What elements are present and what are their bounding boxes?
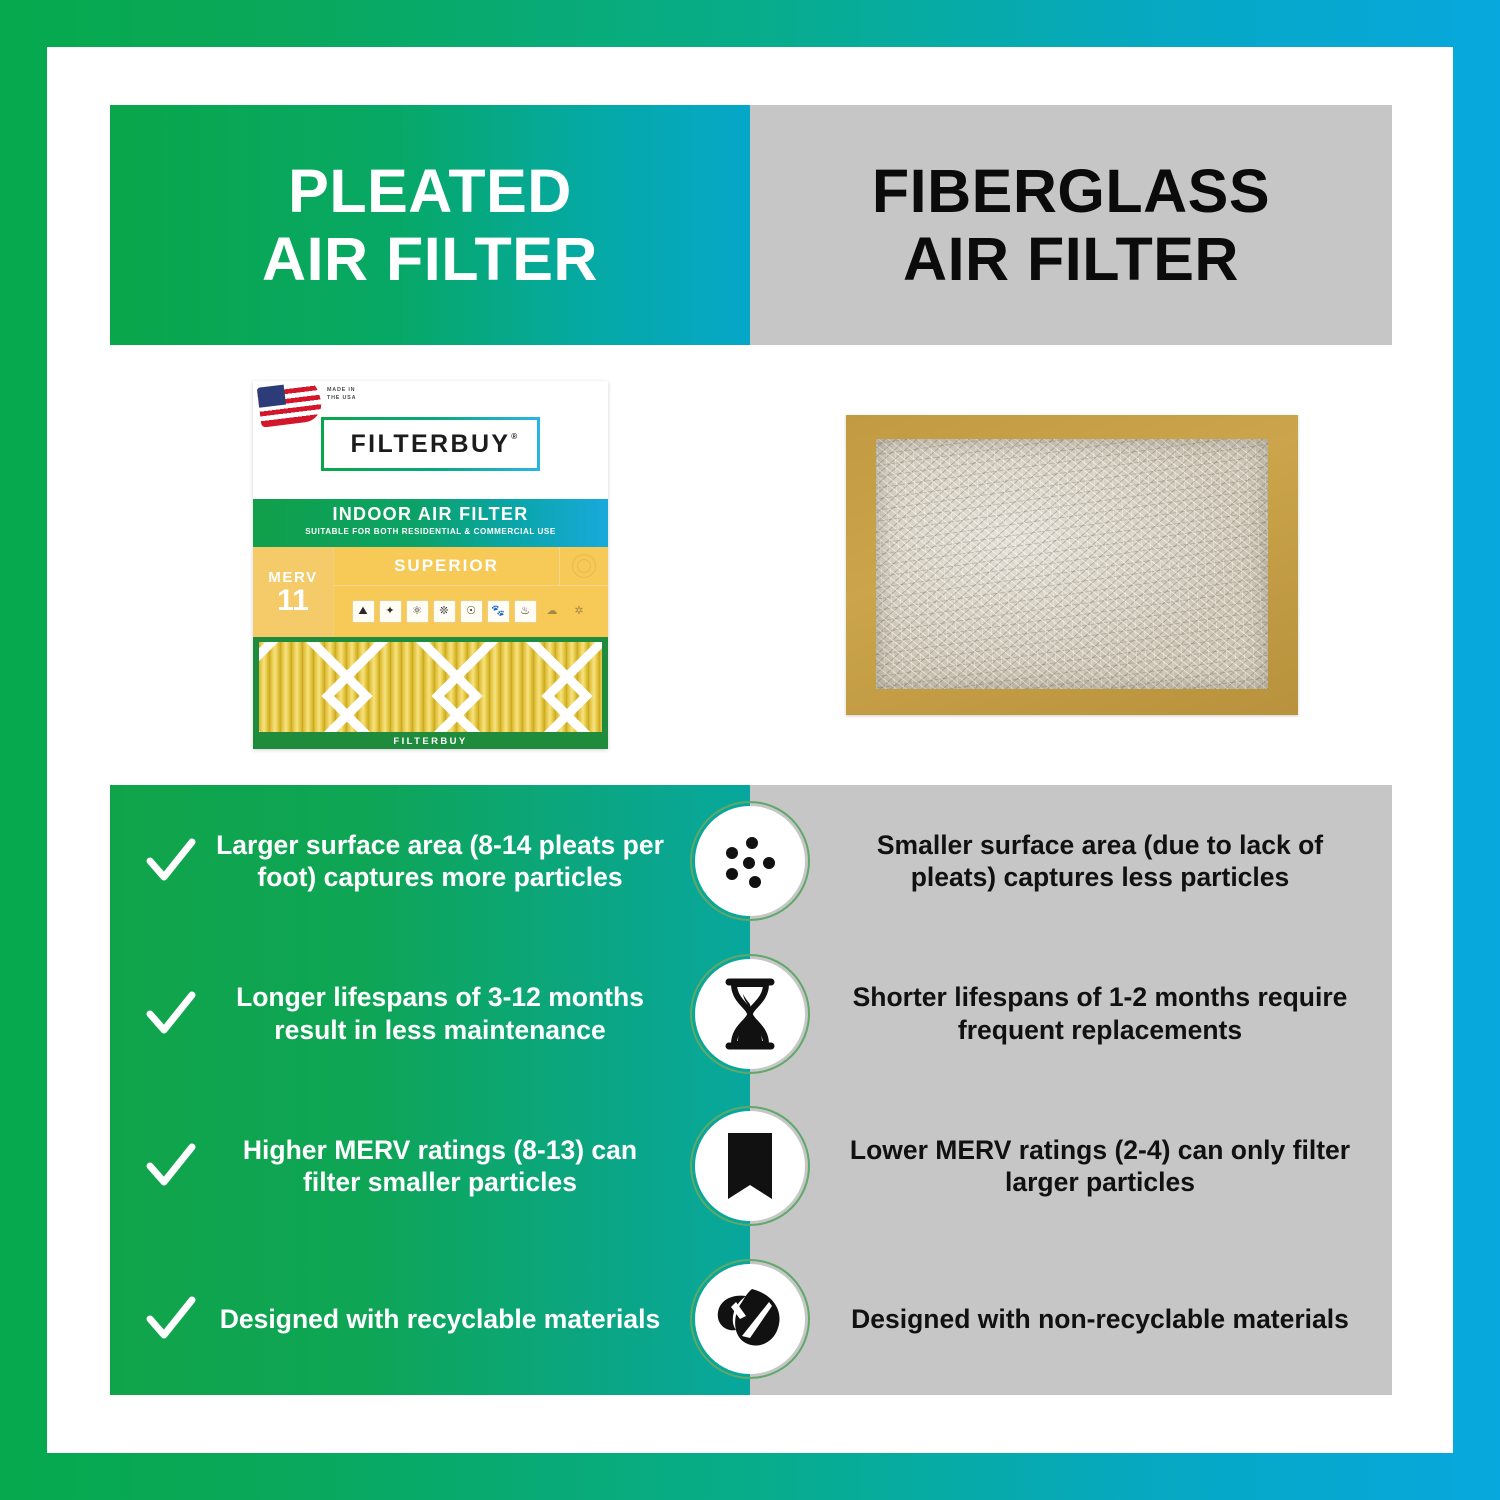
fiberglass-filter-photo: [846, 415, 1298, 715]
made-in-line1: MADE IN: [327, 387, 356, 395]
row-left-cell: Larger surface area (8-14 pleats per foo…: [110, 829, 750, 894]
checkmark-icon: [144, 987, 198, 1041]
filterbuy-wordmark: FILTERBUY: [350, 430, 510, 458]
tier-label: SUPERIOR: [334, 556, 559, 576]
comparison-body: Larger surface area (8-14 pleats per foo…: [110, 785, 1392, 1395]
row-right-text: Shorter lifespans of 1-2 months require …: [838, 981, 1362, 1046]
pet-dander-icon: 🐾: [487, 600, 510, 623]
package-banner: INDOOR AIR FILTER SUITABLE FOR BOTH RESI…: [253, 499, 608, 547]
row-left-cell: Higher MERV ratings (8-13) can filter sm…: [110, 1134, 750, 1199]
header-fiberglass: FIBERGLASS AIR FILTER: [750, 105, 1392, 345]
smoke-icon: ♨: [514, 600, 537, 623]
pleated-product-cell: MADE IN THE USA FILTERBUY® INDOOR AIR FI…: [110, 345, 751, 785]
header-fiberglass-line1: FIBERGLASS: [872, 157, 1270, 225]
odor-icon: ✲: [568, 600, 591, 623]
pleated-media: FILTERBUY: [253, 637, 608, 749]
registered-mark: ®: [511, 432, 519, 441]
header-fiberglass-title: FIBERGLASS AIR FILTER: [872, 157, 1270, 294]
row-right-cell: Lower MERV ratings (2-4) can only filter…: [750, 1134, 1392, 1199]
checkmark-icon: [144, 834, 198, 888]
feature-icon-strip: ⛰ ✦ ⚛ ❊ ☉ 🐾 ♨ ☁ ✲: [334, 586, 608, 637]
merv-band-right: SUPERIOR ⛰ ✦ ⚛ ❊ ☉ 🐾 ♨ ☁: [334, 547, 608, 637]
fiberglass-media: [876, 439, 1268, 689]
package-top: MADE IN THE USA FILTERBUY®: [253, 381, 608, 499]
made-in-usa-text: MADE IN THE USA: [327, 387, 356, 403]
leaf-icon: [690, 1259, 810, 1379]
row-left-text: Higher MERV ratings (8-13) can filter sm…: [214, 1134, 666, 1199]
banner-subtitle: SUITABLE FOR BOTH RESIDENTIAL & COMMERCI…: [253, 527, 608, 536]
comparison-row: Higher MERV ratings (8-13) can filter sm…: [110, 1090, 1392, 1243]
pleat-texture: [259, 642, 602, 732]
header-pleated-title: PLEATED AIR FILTER: [262, 157, 598, 294]
row-right-cell: Smaller surface area (due to lack of ple…: [750, 829, 1392, 894]
made-in-line2: THE USA: [327, 395, 356, 403]
infographic-page: PLEATED AIR FILTER FIBERGLASS AIR FILTER: [0, 0, 1500, 1500]
banner-title: INDOOR AIR FILTER: [253, 504, 608, 525]
checkmark-icon: [144, 1139, 198, 1193]
content-canvas: PLEATED AIR FILTER FIBERGLASS AIR FILTER: [110, 105, 1392, 1395]
merv-block: MERV 11: [253, 547, 334, 637]
bacteria-icon: ⚛: [406, 600, 429, 623]
mold-spores-icon: ❊: [433, 600, 456, 623]
header-row: PLEATED AIR FILTER FIBERGLASS AIR FILTER: [110, 105, 1392, 345]
merv-value: 11: [277, 587, 309, 616]
bookmark-icon: [690, 1106, 810, 1226]
filterbuy-logo: FILTERBUY®: [321, 417, 540, 471]
smog-icon: ☁: [541, 600, 564, 623]
usa-flag-icon: [257, 381, 323, 428]
row-right-cell: Designed with non-recyclable materials: [750, 1303, 1392, 1335]
support-lattice: [259, 642, 602, 732]
checkmark-icon: [144, 1292, 198, 1346]
row-left-cell: Designed with recyclable materials: [110, 1292, 750, 1346]
comparison-row: Larger surface area (8-14 pleats per foo…: [110, 785, 1392, 938]
row-left-text: Longer lifespans of 3-12 months result i…: [214, 981, 666, 1046]
filterbuy-logo-text: FILTERBUY®: [350, 430, 510, 459]
comparison-rows: Larger surface area (8-14 pleats per foo…: [110, 785, 1392, 1395]
fiberglass-product-cell: [751, 345, 1392, 785]
row-right-text: Designed with non-recyclable materials: [838, 1303, 1362, 1335]
header-pleated-line1: PLEATED: [288, 157, 572, 225]
comparison-row: Designed with recyclable materials: [110, 1243, 1392, 1396]
pollen-icon: ✦: [379, 600, 402, 623]
row-right-cell: Shorter lifespans of 1-2 months require …: [750, 981, 1392, 1046]
row-left-text: Designed with recyclable materials: [214, 1303, 666, 1335]
row-left-text: Larger surface area (8-14 pleats per foo…: [214, 829, 666, 894]
particles-icon: [690, 801, 810, 921]
certification-seal-icon: [559, 547, 608, 585]
virus-icon: ☉: [460, 600, 483, 623]
header-pleated-line2: AIR FILTER: [262, 225, 598, 293]
package-footer-brand: FILTERBUY: [259, 736, 602, 747]
header-pleated: PLEATED AIR FILTER: [110, 105, 750, 345]
product-row: MADE IN THE USA FILTERBUY® INDOOR AIR FI…: [110, 345, 1392, 785]
tier-row: SUPERIOR: [334, 547, 608, 586]
package-merv-band: MERV 11 SUPERIOR ⛰ ✦ ⚛: [253, 547, 608, 637]
comparison-row: Longer lifespans of 3-12 months result i…: [110, 938, 1392, 1091]
row-left-cell: Longer lifespans of 3-12 months result i…: [110, 981, 750, 1046]
hourglass-icon: [690, 954, 810, 1074]
dust-icon: ⛰: [352, 600, 375, 623]
header-fiberglass-line2: AIR FILTER: [903, 225, 1239, 293]
row-right-text: Smaller surface area (due to lack of ple…: [838, 829, 1362, 894]
pleated-filter-package: MADE IN THE USA FILTERBUY® INDOOR AIR FI…: [253, 381, 608, 749]
row-right-text: Lower MERV ratings (2-4) can only filter…: [838, 1134, 1362, 1199]
